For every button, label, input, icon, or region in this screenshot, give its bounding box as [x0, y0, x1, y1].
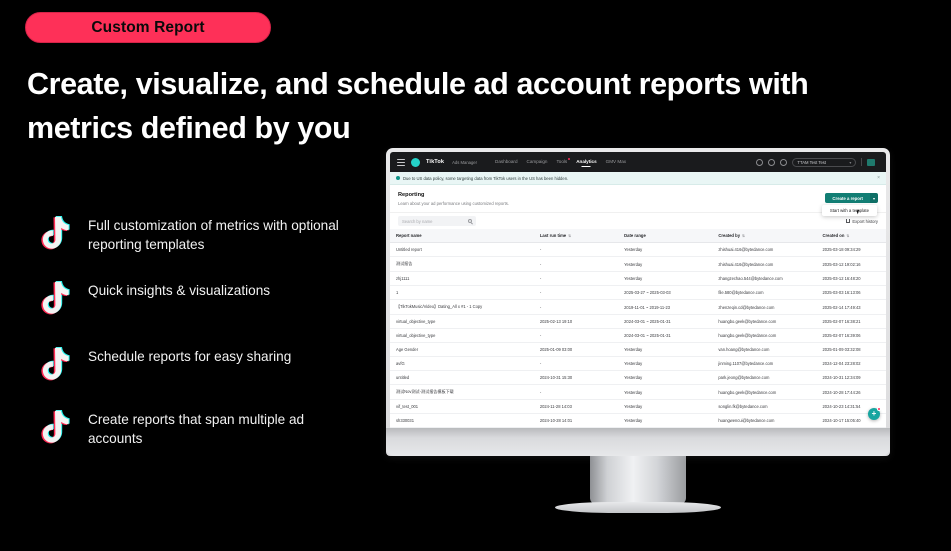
cell-date-range: Yesterday	[618, 243, 712, 257]
monitor-stand-base	[555, 502, 721, 513]
table-body: Untitled report-Yesterdayzhishuai.416@by…	[390, 243, 886, 429]
sort-icon: ⇅	[568, 234, 571, 238]
cell-created-by: huangbo.geek@bytedance.com	[712, 385, 816, 400]
cell-date-range: Yesterday	[618, 414, 712, 428]
notification-dot-icon	[568, 158, 571, 161]
tiktok-note-icon	[34, 278, 74, 316]
cell-date-range: Yesterday	[618, 272, 712, 286]
cell-date-range: Yesterday	[618, 385, 712, 400]
export-history-button[interactable]: Export history	[846, 219, 878, 224]
cell-created-on: 2024-12-04 23:28:02	[817, 357, 886, 371]
feature-label: Schedule reports for easy sharing	[88, 343, 291, 367]
info-icon	[396, 176, 400, 180]
cell-report-name: sh330031	[390, 414, 534, 428]
cell-report-name: vif_test_001	[390, 400, 534, 414]
brand-subtitle: Ads Manager	[452, 160, 477, 165]
app-navbar: TikTok Ads Manager Dashboard Campaign To…	[390, 152, 886, 172]
sort-icon: ⇅	[742, 234, 745, 238]
cell-report-name: 1	[390, 286, 534, 300]
nav-item-gmv-max[interactable]: GMV Max	[606, 159, 626, 166]
table-row[interactable]: 测试Nov测试-测试报告模板下载-Yesterdayhuangbo.geek@b…	[390, 385, 886, 400]
cell-created-on: 2025-02-07 16:39:06	[817, 329, 886, 343]
slide-canvas: Custom Report Create, visualize, and sch…	[0, 0, 951, 551]
sort-icon: ⇅	[846, 234, 849, 238]
cell-last-run-time: -	[534, 286, 618, 300]
list-item: Quick insights & visualizations	[34, 277, 384, 316]
account-label: TTAM Test Test	[797, 160, 826, 165]
feature-label: Create reports that span multiple ad acc…	[88, 406, 358, 448]
cell-created-by: zhishuai.416@bytedance.com	[712, 257, 816, 272]
region-icon[interactable]	[867, 159, 875, 166]
divider	[861, 158, 862, 166]
reporting-title: Reporting	[398, 192, 878, 198]
nav-item-tools[interactable]: Tools	[556, 159, 567, 166]
col-label: Created by	[718, 233, 740, 238]
cell-report-name: 【TikTokMusic/Video】Dating_All x #1 - 1 C…	[390, 300, 534, 315]
cell-date-range: Yesterday	[618, 357, 712, 371]
nav-actions: TTAM Test Test ▾	[756, 158, 879, 167]
cell-created-on: 2025-02-07 16:38:21	[817, 315, 886, 329]
cell-last-run-time: -	[534, 257, 618, 272]
cell-date-range: Yesterday	[618, 371, 712, 385]
create-report-button[interactable]: Create a report ▾	[825, 193, 878, 203]
page-header: Reporting Learn about your ad performanc…	[390, 185, 886, 212]
badge-label: Custom Report	[91, 19, 204, 37]
cell-created-by: jinming.1107@bytedance.com	[712, 357, 816, 371]
cell-created-by: van.hoang@bytedance.com	[712, 343, 816, 357]
tiktok-note-icon	[34, 213, 74, 251]
cell-created-by: zhangzechao.544@bytedance.com	[712, 272, 816, 286]
help-plus-icon: +	[872, 410, 877, 418]
policy-banner: Due to US data policy, some targeting da…	[390, 172, 886, 185]
tiktok-note-icon	[34, 344, 74, 382]
banner-text: Due to US data policy, some targeting da…	[403, 176, 568, 181]
close-icon[interactable]: ×	[877, 175, 880, 181]
custom-report-badge: Custom Report	[25, 12, 271, 43]
cell-report-name: Age Gender	[390, 343, 534, 357]
search-input[interactable]: Search by name	[398, 216, 476, 226]
cell-last-run-time: -	[534, 272, 618, 286]
cell-report-name: 测试报告	[390, 257, 534, 272]
feature-label: Full customization of metrics with optio…	[88, 212, 358, 254]
chevron-down-icon: ▾	[849, 160, 851, 165]
cell-last-run-time: -	[534, 300, 618, 315]
table-row[interactable]: 测试报告-Yesterdayzhishuai.416@bytedance.com…	[390, 257, 886, 272]
table-header-row: Report name Last run time⇅ Date range Cr…	[390, 229, 886, 243]
headset-icon[interactable]	[780, 159, 787, 166]
column-header-date-range[interactable]: Date range	[618, 229, 712, 243]
cell-report-name: Untitled report	[390, 243, 534, 257]
nav-item-tools-label: Tools	[556, 159, 567, 164]
cell-created-on: 2025-03-18 09:34:29	[817, 243, 886, 257]
search-placeholder: Search by name	[402, 219, 433, 224]
monitor-chin	[386, 428, 890, 456]
list-item: Full customization of metrics with optio…	[34, 212, 384, 254]
column-header-last-run-time[interactable]: Last run time⇅	[534, 229, 618, 243]
app-screenshot: TikTok Ads Manager Dashboard Campaign To…	[390, 152, 886, 428]
cell-created-by: zhishuai.416@bytedance.com	[712, 243, 816, 257]
cell-last-run-time: 2025-02-13 19:10	[534, 315, 618, 329]
feature-label: Quick insights & visualizations	[88, 277, 270, 301]
monitor-bezel: TikTok Ads Manager Dashboard Campaign To…	[386, 148, 890, 456]
cell-report-name: zhj1111	[390, 272, 534, 286]
table-row[interactable]: avfG-Yesterdayjinming.1107@bytedance.com…	[390, 357, 886, 371]
cell-created-on: 2024-10-31 12:34:09	[817, 371, 886, 385]
table-row[interactable]: sh3300312024-10-28 14:01Yesterdayhuangwe…	[390, 414, 886, 428]
cell-created-on: 2025-03-12 16:48:20	[817, 272, 886, 286]
column-header-report-name[interactable]: Report name	[390, 229, 534, 243]
cell-last-run-time: -	[534, 243, 618, 257]
cell-created-by: file.580@bytedance.com	[712, 286, 816, 300]
nav-item-dashboard[interactable]: Dashboard	[495, 159, 517, 166]
cell-created-by: huangbo.geek@bytedance.com	[712, 315, 816, 329]
help-fab-button[interactable]: +	[868, 408, 880, 420]
search-icon	[468, 219, 472, 223]
cell-last-run-time: 2024-10-28 14:01	[534, 414, 618, 428]
cell-created-by: park.jeong@bytedance.com	[712, 371, 816, 385]
account-selector[interactable]: TTAM Test Test ▾	[792, 158, 856, 167]
tiktok-note-icon	[34, 407, 74, 445]
monitor-stand-neck	[590, 456, 686, 504]
table-row[interactable]: zhj1111-Yesterdayzhangzechao.544@bytedan…	[390, 272, 886, 286]
table-row[interactable]: 【TikTokMusic/Video】Dating_All x #1 - 1 C…	[390, 300, 886, 315]
cell-date-range: 2019-11-01 ~ 2019-11-23	[618, 300, 712, 315]
table-row[interactable]: vif_test_0012024-11-28 14:03Yesterdayson…	[390, 400, 886, 414]
table-row[interactable]: virtual_objective_type2025-02-13 19:1020…	[390, 315, 886, 329]
table-row[interactable]: Untitled report-Yesterdayzhishuai.416@by…	[390, 243, 886, 257]
menu-item-start-with-template[interactable]: Start with a template	[822, 205, 877, 216]
export-history-label: Export history	[852, 219, 878, 224]
monitor-mockup: TikTok Ads Manager Dashboard Campaign To…	[386, 148, 890, 513]
cell-last-run-time: 2024-11-28 14:03	[534, 400, 618, 414]
cell-report-name: 测试Nov测试-测试报告模板下载	[390, 385, 534, 400]
cell-created-on: 2025-02-14 17:49:43	[817, 300, 886, 315]
col-label: Report name	[396, 233, 422, 238]
cell-last-run-time: 2025-01-09 03:00	[534, 343, 618, 357]
cell-last-run-time: -	[534, 385, 618, 400]
cell-created-by: huangwencui@bytedance.com	[712, 414, 816, 428]
col-label: Last run time	[540, 233, 566, 238]
col-label: Date range	[624, 233, 646, 238]
cell-date-range: 2025-03-27 ~ 2025-03-03	[618, 286, 712, 300]
cell-date-range: 2024-03-01 ~ 2025-01-31	[618, 329, 712, 343]
reporting-subtitle: Learn about your ad performance using cu…	[398, 201, 878, 206]
table-row[interactable]: untitled2024-10-31 15:30Yesterdaypark.je…	[390, 371, 886, 385]
cell-date-range: 2024-03-01 ~ 2025-01-31	[618, 315, 712, 329]
cell-created-by: zhenzeqin.cd@bytedance.com	[712, 300, 816, 315]
col-label: Created on	[823, 233, 845, 238]
cell-report-name: virtual_objective_type	[390, 315, 534, 329]
notification-dot-icon	[877, 407, 881, 411]
table-toolbar: Search by name Export history	[390, 212, 886, 229]
nav-item-campaign[interactable]: Campaign	[527, 159, 548, 166]
nav-item-analytics[interactable]: Analytics	[576, 159, 596, 166]
column-header-created-by[interactable]: Created by⇅	[712, 229, 816, 243]
create-report-label: Create a report	[825, 193, 870, 203]
column-header-created-on[interactable]: Created on⇅	[817, 229, 886, 243]
table-row[interactable]: 1-2025-03-27 ~ 2025-03-03file.580@byteda…	[390, 286, 886, 300]
cell-created-by: huangbo.geek@bytedance.com	[712, 329, 816, 343]
avatar[interactable]	[411, 158, 420, 167]
cell-date-range: Yesterday	[618, 343, 712, 357]
list-item: Create reports that span multiple ad acc…	[34, 406, 384, 448]
cell-last-run-time: 2024-10-31 15:30	[534, 371, 618, 385]
download-icon	[846, 219, 850, 224]
feature-list: Full customization of metrics with optio…	[34, 212, 384, 471]
cell-created-on: 2025-03-03 16:13:06	[817, 286, 886, 300]
table-row[interactable]: Age Gender2025-01-09 03:00Yesterdayvan.h…	[390, 343, 886, 357]
cell-date-range: Yesterday	[618, 257, 712, 272]
cell-last-run-time: -	[534, 357, 618, 371]
cell-last-run-time: -	[534, 329, 618, 343]
chevron-down-icon[interactable]: ▾	[870, 193, 878, 203]
cell-report-name: virtual_objective_type	[390, 329, 534, 343]
table-head: Report name Last run time⇅ Date range Cr…	[390, 229, 886, 243]
cell-created-on: 2025-01-09 03:32:08	[817, 343, 886, 357]
page-title: Create, visualize, and schedule ad accou…	[27, 62, 827, 150]
bell-icon[interactable]	[756, 159, 763, 166]
brand-label: TikTok	[426, 159, 444, 165]
cell-created-on: 2024-10-28 17:44:26	[817, 385, 886, 400]
cell-date-range: Yesterday	[618, 400, 712, 414]
cell-created-by: songlin.fk@bytedance.com	[712, 400, 816, 414]
cell-created-on: 2025-03-12 19:02:16	[817, 257, 886, 272]
cell-report-name: untitled	[390, 371, 534, 385]
menu-icon[interactable]	[397, 159, 405, 166]
nav-items: Dashboard Campaign Tools Analytics GMV M…	[495, 159, 626, 166]
reports-table: Report name Last run time⇅ Date range Cr…	[390, 229, 886, 428]
table-row[interactable]: virtual_objective_type-2024-03-01 ~ 2025…	[390, 329, 886, 343]
cell-report-name: avfG	[390, 357, 534, 371]
list-item: Schedule reports for easy sharing	[34, 343, 384, 382]
help-icon[interactable]	[768, 159, 775, 166]
